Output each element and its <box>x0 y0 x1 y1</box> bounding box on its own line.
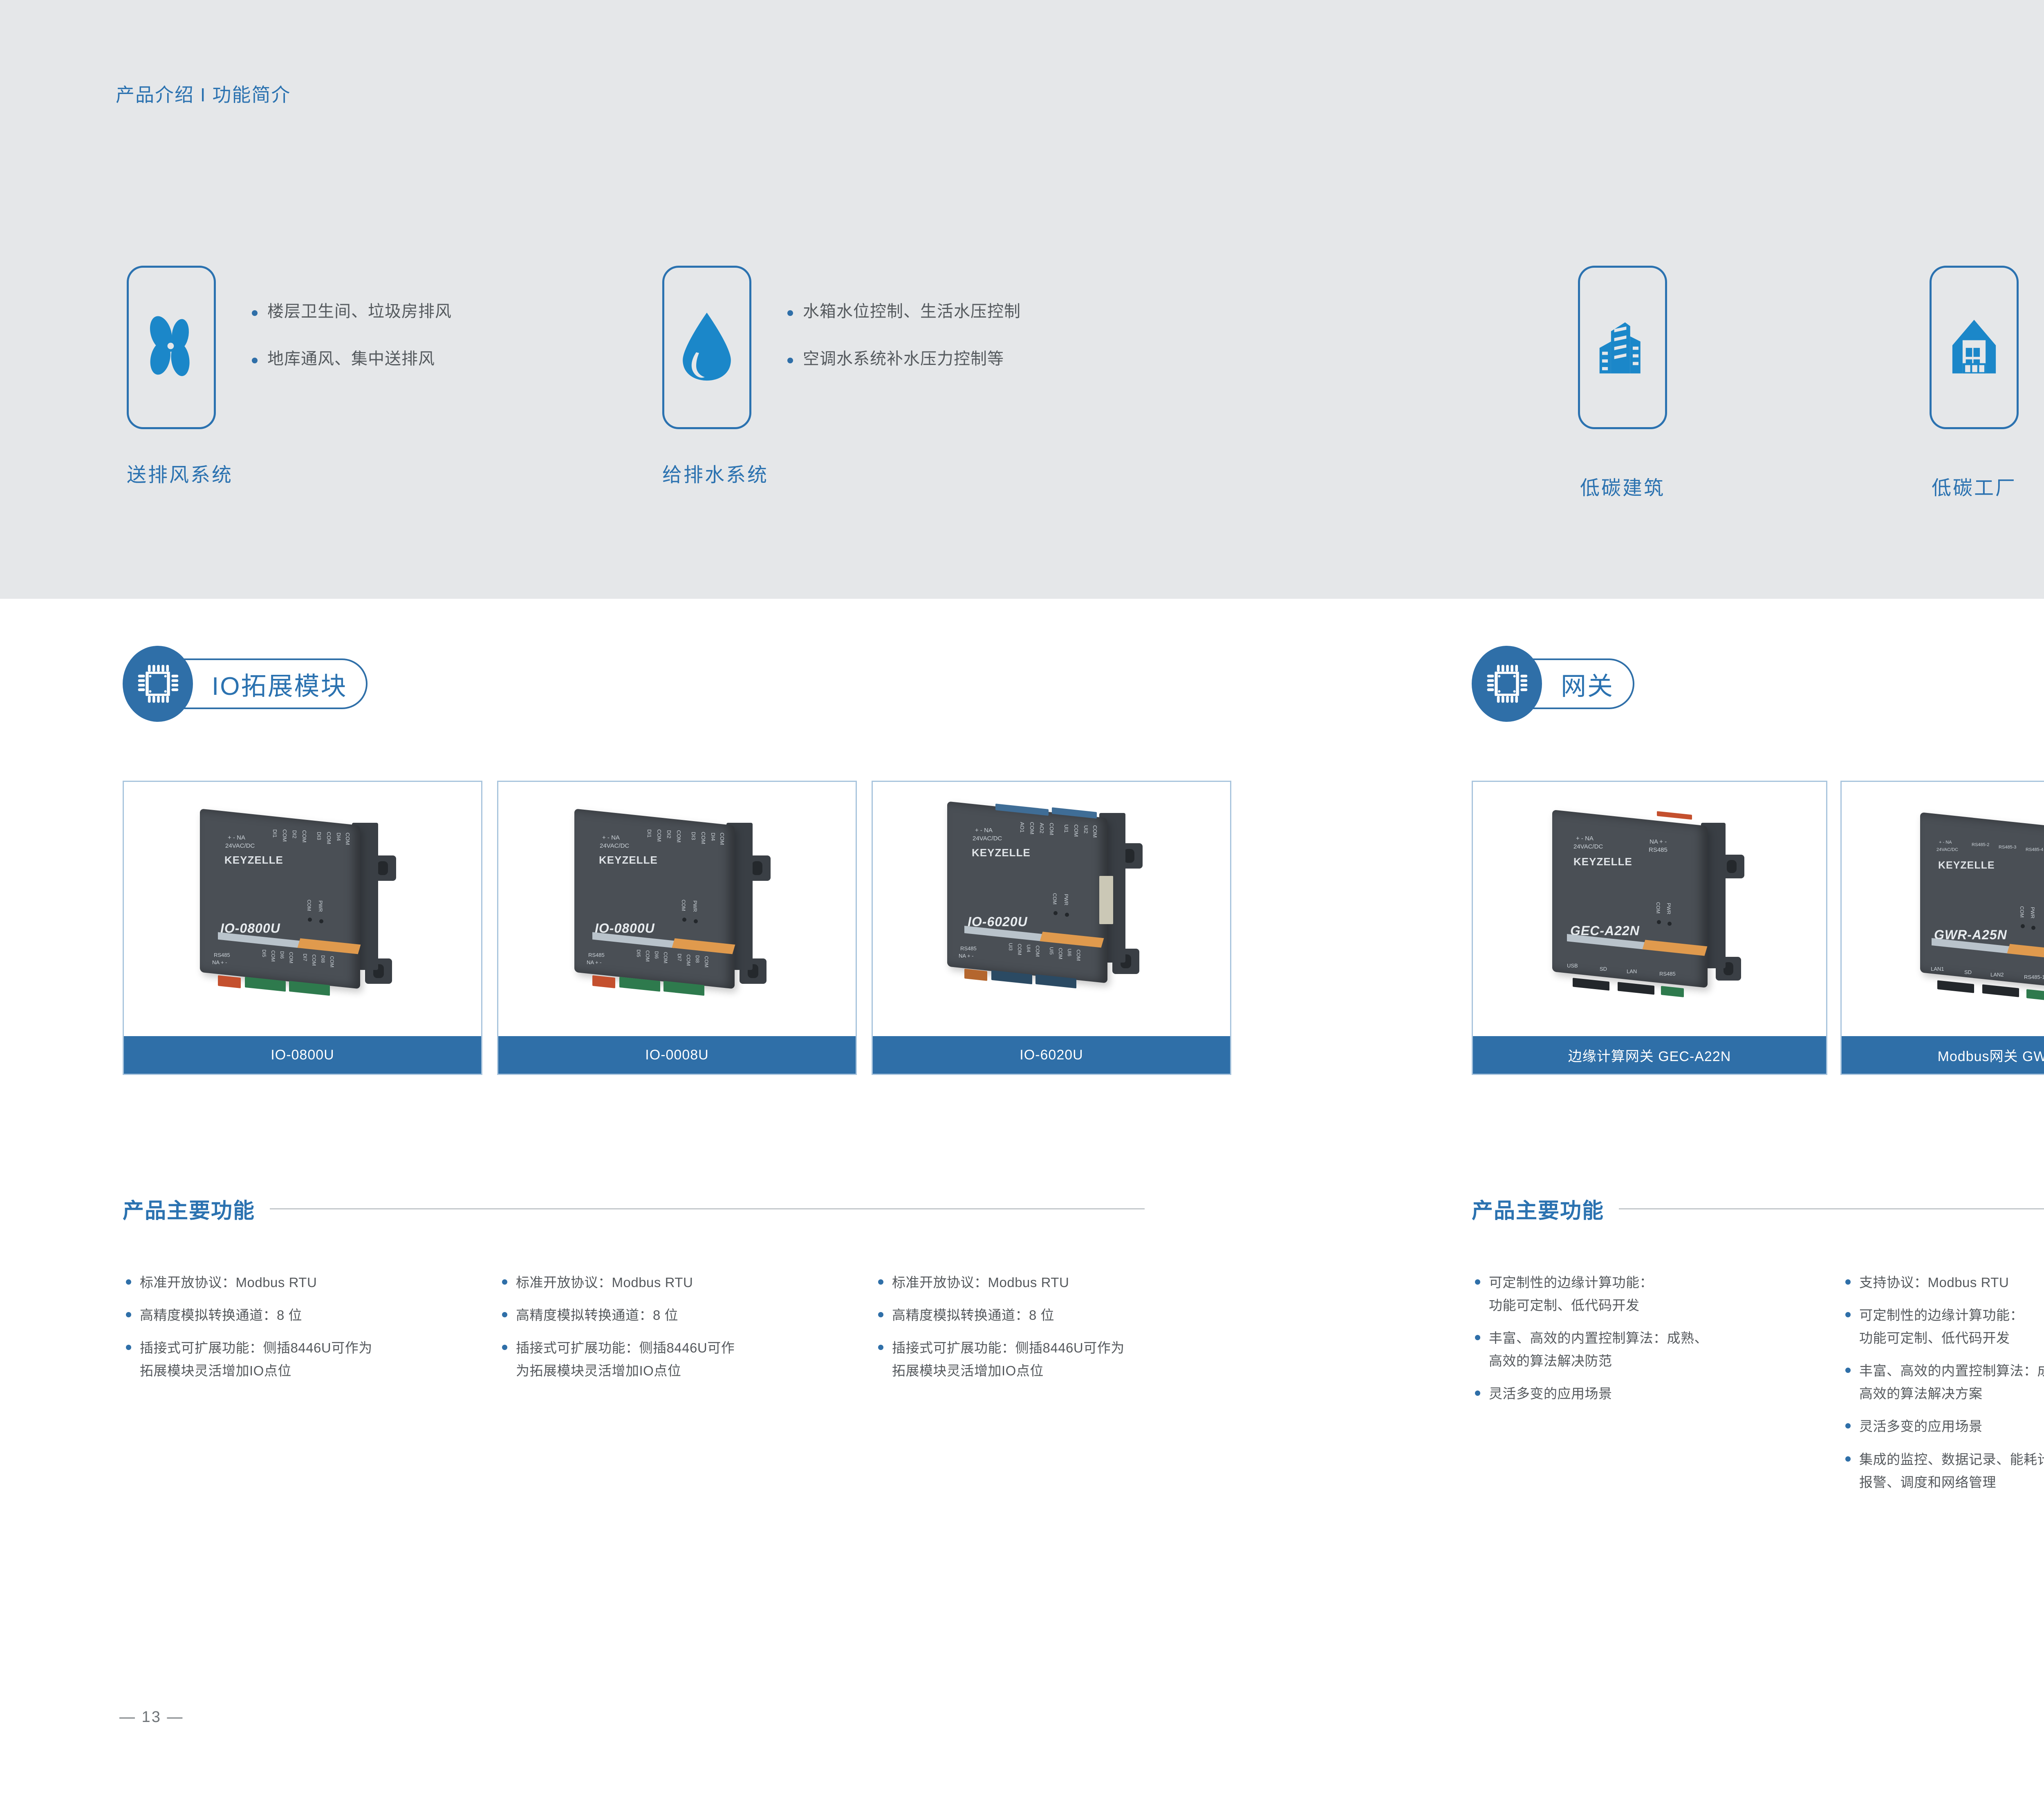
device-rs485-label-top: RS485 <box>1649 846 1667 853</box>
device-led-label: PWR <box>2030 907 2035 918</box>
device-led-label: COM <box>681 900 686 911</box>
device-rs485-label: RS485 <box>960 945 977 952</box>
device-power-label-1: + - NA <box>228 834 245 841</box>
device-terminal: UI3 <box>1008 943 1013 951</box>
features-column: 标准开放协议：Modbus RTU 高精度模拟转换通道：8 位 插接式可扩展功能… <box>123 1271 482 1392</box>
device-brand: KEYZELLE <box>599 854 658 867</box>
lowcarbon-icon-box <box>1930 266 2019 429</box>
water-drop-icon <box>678 310 735 385</box>
device-port-label: SD <box>1964 969 1972 975</box>
list-item: 插接式可扩展功能：侧插8446U可作为 拓展模块灵活增加IO点位 <box>123 1337 482 1382</box>
product-label: IO-0800U <box>124 1036 481 1074</box>
device-terminal: COM <box>311 954 317 966</box>
features-header-gateway: 产品主要功能 <box>1472 1193 2044 1224</box>
scenario-bullet-list: 水箱水位控制、生活水压控制 空调水系统补水压力控制等 <box>784 266 1021 398</box>
scenario-caption-water: 给排水系统 <box>662 459 769 487</box>
device-power-label-1: + - NA <box>1939 840 1952 845</box>
list-item: 可定制性的边缘计算功能： 功能可定制、低代码开发 <box>1842 1304 2044 1350</box>
device-terminal: COM <box>1029 822 1035 834</box>
device-power-label-1: + - NA <box>602 834 620 841</box>
list-item: 丰富、高效的内置控制算法：成熟、 高效的算法解决防范 <box>1472 1327 1827 1373</box>
device-terminal: UI5 <box>1049 947 1054 955</box>
device-terminal: COM <box>645 950 650 962</box>
device-illustration: + - NA 24VAC/DC NA + - RS485 KEYZELLE GE… <box>1538 806 1763 999</box>
product-card[interactable]: + - NA 24VAC/DC NA + - RS485 KEYZELLE GE… <box>1472 781 1827 1075</box>
device-terminal: DI3 <box>316 832 322 840</box>
device-terminal: DI5 <box>636 949 641 957</box>
page-number-left: — 13 — <box>119 1708 184 1726</box>
device-terminal: COM <box>326 832 332 844</box>
product-image: + - NA 24VAC/DC AO1 COM AO2 COM UI1 COM … <box>873 782 1230 1036</box>
section-title: 网关 <box>1561 665 1614 702</box>
chip-icon <box>1472 646 1542 722</box>
device-illustration: + - NA 24VAC/DC RS485-2 RS485-3 RS485-4 … <box>1907 809 2044 1001</box>
scenario-icon-box <box>127 266 216 429</box>
product-image: + - NA 24VAC/DC DI1 COM DI2 COM DI3 COM … <box>498 782 856 1036</box>
product-card-row-io: + - NA 24VAC/DC DI1 COM DI2 COM DI3 COM … <box>123 781 1231 1075</box>
list-item: 集成的监控、数据记录、能耗计量、 报警、调度和网络管理 <box>1842 1448 2044 1494</box>
product-card[interactable]: + - NA 24VAC/DC DI1 COM DI2 COM DI3 COM … <box>497 781 857 1075</box>
device-terminal: AO2 <box>1039 823 1045 833</box>
product-image: + - NA 24VAC/DC RS485-2 RS485-3 RS485-4 … <box>1842 782 2044 1036</box>
list-item: 插接式可扩展功能：侧插8446U可作 为拓展模块灵活增加IO点位 <box>499 1337 858 1382</box>
device-power-label-2: 24VAC/DC <box>973 835 1002 842</box>
device-terminal: COM <box>1073 824 1079 837</box>
section-header-io-modules: IO拓展模块 <box>123 646 368 722</box>
device-terminal: COM <box>719 833 725 845</box>
product-label: IO-6020U <box>873 1036 1230 1074</box>
device-terminal: DI3 <box>690 832 697 840</box>
device-terminal: DI5 <box>261 949 267 957</box>
device-terminal: COM <box>656 829 662 842</box>
device-rs485-pins: NA + - <box>587 959 602 965</box>
product-label: 边缘计算网关 GEC-A22N <box>1473 1036 1826 1074</box>
list-item: 支持协议：Modbus RTU <box>1842 1271 2044 1294</box>
list-item: 灵活多变的应用场景 <box>1472 1382 1827 1405</box>
features-columns-gateway: 可定制性的边缘计算功能： 功能可定制、低代码开发 丰富、高效的内置控制算法：成熟… <box>1472 1271 2044 1504</box>
divider <box>270 1208 1145 1209</box>
lowcarbon-label: 低碳建筑 <box>1578 472 1667 500</box>
product-label: IO-0008U <box>498 1036 856 1074</box>
features-title: 产品主要功能 <box>123 1193 255 1224</box>
product-card-row-gateway: + - NA 24VAC/DC NA + - RS485 KEYZELLE GE… <box>1472 781 2044 1075</box>
device-port-label: RS485-1 <box>2024 974 2044 980</box>
section-header-gateways: 网关 <box>1472 646 1634 722</box>
fan-icon <box>139 312 204 383</box>
device-terminal: RS485-4 <box>2026 847 2043 852</box>
device-terminal: COM <box>270 950 276 962</box>
list-item: 楼层卫生间、垃圾房排风 <box>249 303 452 320</box>
device-power-label-1: + - NA <box>975 827 993 834</box>
list-item: 地库通风、集中送排风 <box>249 351 452 367</box>
device-terminal: DI4 <box>710 833 716 841</box>
device-illustration: + - NA 24VAC/DC DI1 COM DI2 COM DI3 COM … <box>560 806 789 999</box>
list-item: 丰富、高效的内置控制算法：成熟、 高效的算法解决方案 <box>1842 1359 2044 1405</box>
device-terminal: COM <box>1092 825 1098 837</box>
product-card[interactable]: + - NA 24VAC/DC DI1 COM DI2 COM DI3 COM … <box>123 781 482 1075</box>
device-terminal: COM <box>329 956 335 967</box>
product-label: Modbus网关 GWR-A25N <box>1842 1036 2044 1074</box>
section-title: IO拓展模块 <box>212 665 347 702</box>
product-card[interactable]: + - NA 24VAC/DC AO1 COM AO2 COM UI1 COM … <box>872 781 1231 1075</box>
features-column: 标准开放协议：Modbus RTU 高精度模拟转换通道：8 位 插接式可扩展功能… <box>875 1271 1235 1392</box>
device-brand: KEYZELLE <box>1573 855 1632 868</box>
device-port-label: LAN1 <box>1931 966 1944 972</box>
device-terminal: COM <box>1035 945 1040 957</box>
device-led-label: COM <box>306 900 312 911</box>
scenario-water-supply: 水箱水位控制、生活水压控制 空调水系统补水压力控制等 <box>662 266 1021 429</box>
scenario-icon-box <box>662 266 751 429</box>
list-item: 灵活多变的应用场景 <box>1842 1415 2044 1438</box>
office-building-icon <box>1592 314 1653 381</box>
device-port-label: USB <box>1567 963 1578 969</box>
list-item: 水箱水位控制、生活水压控制 <box>784 303 1021 320</box>
scenario-bullet-list: 楼层卫生间、垃圾房排风 地库通风、集中送排风 <box>249 266 452 398</box>
device-terminal: DI1 <box>646 829 652 837</box>
list-item: 可定制性的边缘计算功能： 功能可定制、低代码开发 <box>1472 1271 1827 1317</box>
device-power-label-1: + - NA <box>1576 835 1594 842</box>
lowcarbon-icon-box <box>1578 266 1667 429</box>
device-terminal: DI2 <box>666 830 672 838</box>
product-image: + - NA 24VAC/DC DI1 COM DI2 COM DI3 COM … <box>124 782 481 1036</box>
device-terminal: COM <box>1058 948 1063 959</box>
device-terminal: DI4 <box>336 833 342 841</box>
device-terminal: UI2 <box>1083 825 1089 833</box>
device-terminal: DI1 <box>272 829 278 837</box>
device-terminal: COM <box>1049 823 1055 835</box>
device-terminal: COM <box>663 952 668 963</box>
device-illustration: + - NA 24VAC/DC AO1 COM AO2 COM UI1 COM … <box>934 798 1163 999</box>
device-led-label: COM <box>1052 893 1058 905</box>
device-port-label: LAN <box>1627 968 1637 974</box>
device-terminal: DI8 <box>695 955 700 963</box>
device-terminal: UI6 <box>1067 949 1072 956</box>
device-terminal: COM <box>301 830 307 842</box>
device-power-label-2: 24VAC/DC <box>225 842 255 849</box>
device-power-label-2: 24VAC/DC <box>1573 843 1603 850</box>
list-item: 标准开放协议：Modbus RTU <box>875 1271 1235 1294</box>
device-terminal: COM <box>288 952 294 963</box>
device-led-label: COM <box>1655 902 1661 914</box>
chip-icon <box>123 646 193 722</box>
features-column: 可定制性的边缘计算功能： 功能可定制、低代码开发 丰富、高效的内置控制算法：成熟… <box>1472 1271 1827 1504</box>
divider <box>1619 1208 2044 1209</box>
device-rs485-pins: NA + - <box>212 959 227 965</box>
device-terminal: DI6 <box>279 951 285 959</box>
list-item: 插接式可扩展功能：侧插8446U可作为 拓展模块灵活增加IO点位 <box>875 1337 1235 1382</box>
device-terminal: UI1 <box>1063 824 1069 833</box>
lowcarbon-factory: 低碳工厂 <box>1930 266 2019 500</box>
device-rs485-label: RS485 <box>214 952 230 958</box>
device-led-label: PWR <box>318 900 323 912</box>
device-port-label: LAN2 <box>1990 972 2004 978</box>
device-terminal: AO1 <box>1019 822 1025 833</box>
device-port-label: RS485 <box>1659 971 1676 977</box>
list-item: 高精度模拟转换通道：8 位 <box>123 1304 482 1327</box>
features-column: 标准开放协议：Modbus RTU 高精度模拟转换通道：8 位 插接式可扩展功能… <box>499 1271 858 1392</box>
product-image: + - NA 24VAC/DC NA + - RS485 KEYZELLE GE… <box>1473 782 1826 1036</box>
device-power-label-2: 24VAC/DC <box>1936 847 1958 852</box>
device-terminal: DI6 <box>654 951 659 959</box>
device-led-label: COM <box>2019 906 2025 918</box>
device-terminal: DI7 <box>677 954 682 961</box>
device-terminal: COM <box>676 830 682 842</box>
device-terminal: COM <box>704 956 709 967</box>
device-terminal: RS485-3 <box>1999 845 2016 850</box>
device-terminal: COM <box>1076 949 1081 961</box>
device-terminal: RS485-2 <box>1972 842 1989 847</box>
device-terminal: DI2 <box>291 830 298 838</box>
device-terminal: COM <box>282 829 288 842</box>
device-illustration: + - NA 24VAC/DC DI1 COM DI2 COM DI3 COM … <box>185 806 414 999</box>
device-rs485-label: RS485 <box>588 952 605 958</box>
features-title: 产品主要功能 <box>1472 1193 1604 1224</box>
scenario-ventilation: 楼层卫生间、垃圾房排风 地库通风、集中送排风 <box>127 266 452 429</box>
device-terminal: COM <box>1017 944 1022 955</box>
device-brand: KEYZELLE <box>972 846 1031 859</box>
device-terminal: COM <box>700 832 706 844</box>
device-rs485-pins-top: NA + - <box>1650 838 1667 845</box>
device-terminal: COM <box>686 954 691 966</box>
list-item: 高精度模拟转换通道：8 位 <box>499 1304 858 1327</box>
device-terminal: DI7 <box>302 954 308 961</box>
device-led-label: PWR <box>1063 894 1069 905</box>
list-item: 标准开放协议：Modbus RTU <box>499 1271 858 1294</box>
device-led-label: PWR <box>692 900 698 912</box>
features-header-io: 产品主要功能 <box>123 1193 1145 1224</box>
product-card[interactable]: + - NA 24VAC/DC RS485-2 RS485-3 RS485-4 … <box>1840 781 2044 1075</box>
features-columns-io: 标准开放协议：Modbus RTU 高精度模拟转换通道：8 位 插接式可扩展功能… <box>123 1271 1235 1392</box>
running-header-left: 产品介绍 I 功能简介 <box>116 80 291 107</box>
list-item: 标准开放协议：Modbus RTU <box>123 1271 482 1294</box>
device-brand: KEYZELLE <box>224 854 283 867</box>
device-brand: KEYZELLE <box>1938 860 1995 871</box>
lowcarbon-building: 低碳建筑 <box>1578 266 1667 500</box>
device-port-label: SD <box>1600 966 1607 972</box>
device-power-label-2: 24VAC/DC <box>600 842 629 849</box>
scenario-caption-ventilation: 送排风系统 <box>127 459 233 487</box>
lowcarbon-label: 低碳工厂 <box>1930 472 2019 500</box>
list-item: 高精度模拟转换通道：8 位 <box>875 1304 1235 1327</box>
features-column: 支持协议：Modbus RTU 可定制性的边缘计算功能： 功能可定制、低代码开发… <box>1842 1271 2044 1504</box>
device-terminal: COM <box>345 833 351 845</box>
device-led-label: PWR <box>1666 903 1672 914</box>
factory-icon <box>1943 314 2005 381</box>
device-terminal: UI4 <box>1026 945 1031 952</box>
device-terminal: DI8 <box>320 955 326 963</box>
device-rs485-pins: NA + - <box>959 953 974 959</box>
list-item: 空调水系统补水压力控制等 <box>784 351 1021 367</box>
